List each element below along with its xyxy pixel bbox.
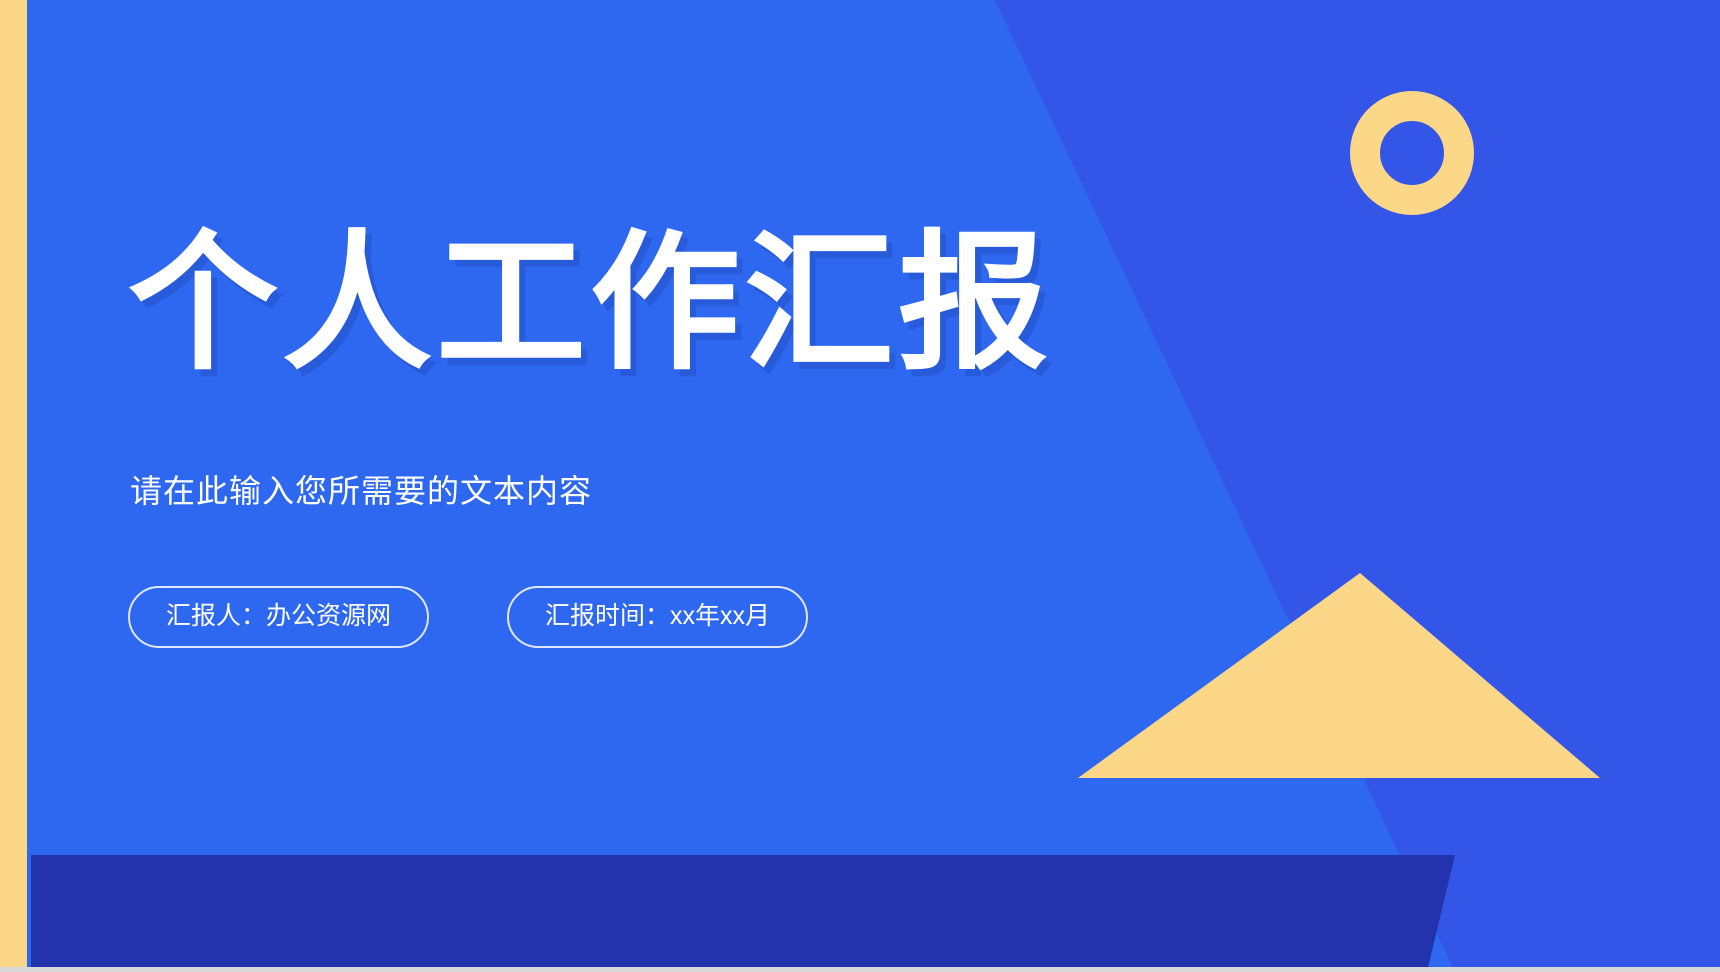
meta-row: 汇报人：办公资源网 汇报时间：xx年xx月 [128,586,808,648]
report-date-pill[interactable]: 汇报时间：xx年xx月 [507,586,808,648]
reporter-pill[interactable]: 汇报人：办公资源网 [128,586,429,648]
slide-subtitle: 请在此输入您所需要的文本内容 [130,466,592,512]
left-stripe-gutter [27,0,31,972]
donut-ring-shape [1350,91,1474,215]
presentation-slide: 个人工作汇报 请在此输入您所需要的文本内容 汇报人：办公资源网 汇报时间：xx年… [0,0,1720,972]
left-stripe-shape [0,0,27,972]
slide-content: 个人工作汇报 请在此输入您所需要的文本内容 汇报人：办公资源网 汇报时间：xx年… [128,0,1088,972]
page-title: 个人工作汇报 [128,228,1052,378]
